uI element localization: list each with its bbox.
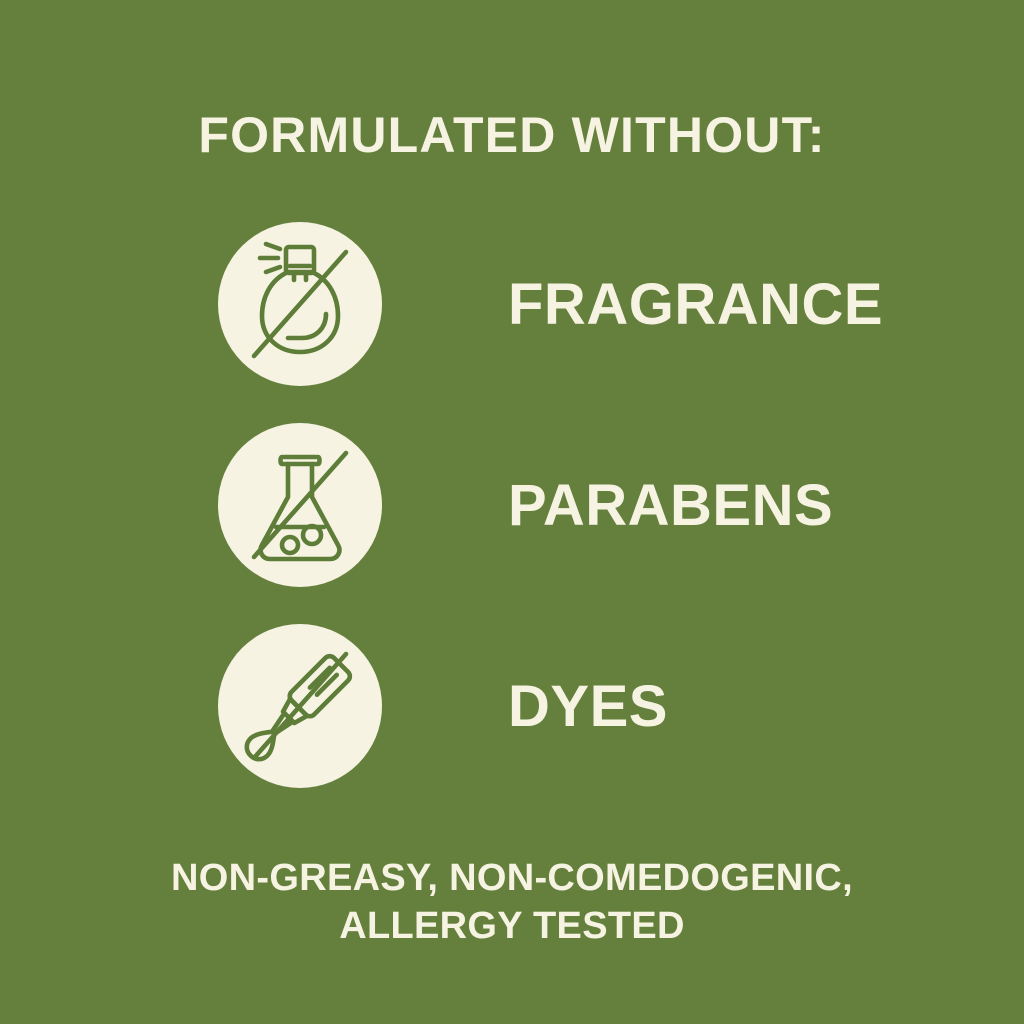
page-title: FORMULATED WITHOUT: xyxy=(0,104,1024,166)
no-flask-icon xyxy=(218,423,382,587)
footer-claims-line-2: ALLERGY TESTED xyxy=(0,902,1024,950)
list-item: FRAGRANCE xyxy=(0,222,1024,386)
footer-claims-line-1: NON-GREASY, NON-COMEDOGENIC, xyxy=(0,854,1024,902)
claim-label-fragrance: FRAGRANCE xyxy=(508,222,883,386)
formulated-without-panel: FORMULATED WITHOUT: xyxy=(0,0,1024,1024)
no-dropper-icon xyxy=(218,624,382,788)
footer-claims: NON-GREASY, NON-COMEDOGENIC, ALLERGY TES… xyxy=(0,854,1024,950)
claim-list: FRAGRANCE xyxy=(0,222,1024,825)
no-fragrance-bottle-icon xyxy=(218,222,382,386)
claim-label-parabens: PARABENS xyxy=(508,423,833,587)
claim-label-dyes: DYES xyxy=(508,624,668,788)
list-item: DYES xyxy=(0,624,1024,788)
list-item: PARABENS xyxy=(0,423,1024,587)
